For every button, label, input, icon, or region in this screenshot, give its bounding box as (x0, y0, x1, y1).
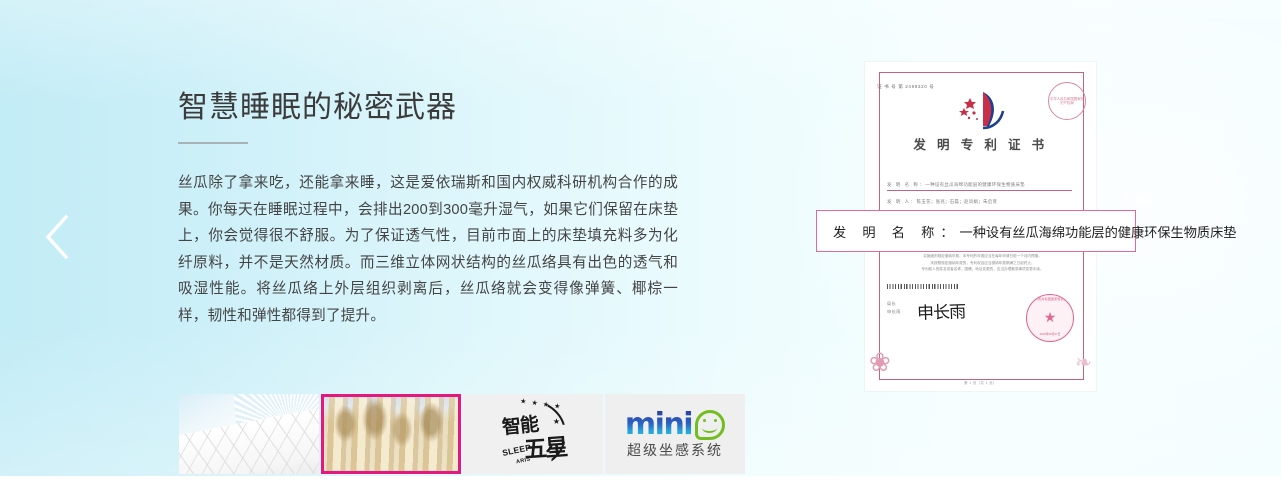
mini-logo-image: mini 超级坐感系统 (605, 394, 745, 474)
badge-stars: ★ ★ ★ ★ (520, 397, 563, 411)
certificate-field-row: 发 明 人：陈玉花；张兆；石磊；赵凤娟；朱启贤 (887, 197, 1080, 206)
certificate-field-row: 发 明 名 称：一种设有丝瓜海绵功能层的健康环保生物质床垫 (887, 180, 1080, 189)
callout-value: 一种设有丝瓜海绵功能层的健康环保生物质床垫 (960, 226, 1237, 241)
certificate-barcode (887, 284, 959, 289)
prev-slide-button[interactable] (36, 208, 78, 266)
seal-emblem-icon: ★ (1044, 310, 1057, 324)
certificate-director-label: 局长 (887, 300, 901, 308)
badge-star-single: ★ (553, 417, 560, 426)
mini-wordmark: mini (625, 410, 692, 440)
callout-text: 发 明 名 称：一种设有丝瓜海绵功能层的健康环保生物质床垫 (833, 222, 1236, 241)
certificate-body-line: 专利权人的姓名或者名称、国籍、地址变更的，应当办理著录事项变更手续。 (887, 266, 1078, 272)
certificate-director-name: 申长雨 (887, 308, 901, 316)
certificate-field-value: 陈玉花；张兆；石磊；赵凤娟；朱启贤 (917, 199, 998, 204)
mini-subtitle: 超级坐感系统 (627, 442, 723, 458)
certificate-official-seal: 中华人民共和国国家知识产权局 ★ 2015年05月27日 (1026, 294, 1074, 342)
thumbnail-mattress-surface[interactable] (179, 394, 319, 474)
seal-date: 2015年05月27日 (1027, 332, 1073, 336)
certificate-page-number: 第 1 页（共 1 页） (865, 380, 1096, 385)
mini-logo-row: mini (625, 410, 725, 440)
thumbnail-strip: ★ ★ ★ ★ ★ 智能 五星 SLEEP ARIS mini (179, 394, 746, 474)
certificate-title: 发 明 专 利 证 书 (865, 134, 1096, 153)
title-divider (178, 142, 248, 144)
thumbnail-loofah-fiber[interactable] (321, 394, 461, 474)
content-column: 智慧睡眠的秘密武器 丝瓜除了拿来吃，还能拿来睡，这是爱依瑞斯和国内权威科研机构合… (178, 88, 688, 329)
slide-stage: 智慧睡眠的秘密武器 丝瓜除了拿来吃，还能拿来睡，这是爱依瑞斯和国内权威科研机构合… (0, 0, 1281, 487)
page-title: 智慧睡眠的秘密武器 (178, 88, 688, 128)
certificate-field-value: 一种设有丝瓜海绵功能层的健康环保生物质床垫 (925, 182, 1025, 187)
background-bottom-band (0, 476, 1281, 487)
certificate-field-label: 发 明 人： (887, 199, 917, 204)
chevron-left-icon (44, 214, 70, 260)
certificate-field-underline (887, 190, 1072, 191)
thumbnail-smart-sleep-badge[interactable]: ★ ★ ★ ★ ★ 智能 五星 SLEEP ARIS (463, 394, 603, 474)
smiley-bubble-icon (695, 410, 725, 440)
certificate-field-label: 发 明 名 称： (887, 182, 925, 187)
mattress-surface-image (179, 394, 319, 474)
loofah-fiber-image (324, 397, 458, 471)
badge-mark: ★ ★ ★ ★ ★ 智能 五星 SLEEP ARIS (500, 401, 566, 467)
body-paragraph: 丝瓜除了拿来吃，还能拿来睡，这是爱依瑞斯和国内权威科研机构合作的成果。你每天在睡… (178, 170, 678, 329)
thumbnail-mini-logo[interactable]: mini 超级坐感系统 (605, 394, 745, 474)
certificate-signature-labels: 局长 申长雨 (887, 300, 901, 316)
patent-office-emblem-icon (953, 88, 1009, 132)
certificate-top-seal: 中华人民共和国国家知识产权局 (1048, 82, 1086, 120)
smart-sleep-badge-image: ★ ★ ★ ★ ★ 智能 五星 SLEEP ARIS (463, 394, 603, 474)
certificate-signature: 申长雨 (917, 297, 966, 324)
callout-label: 发 明 名 称： (833, 226, 960, 241)
patent-name-callout: 发 明 名 称：一种设有丝瓜海绵功能层的健康环保生物质床垫 (816, 210, 1136, 252)
